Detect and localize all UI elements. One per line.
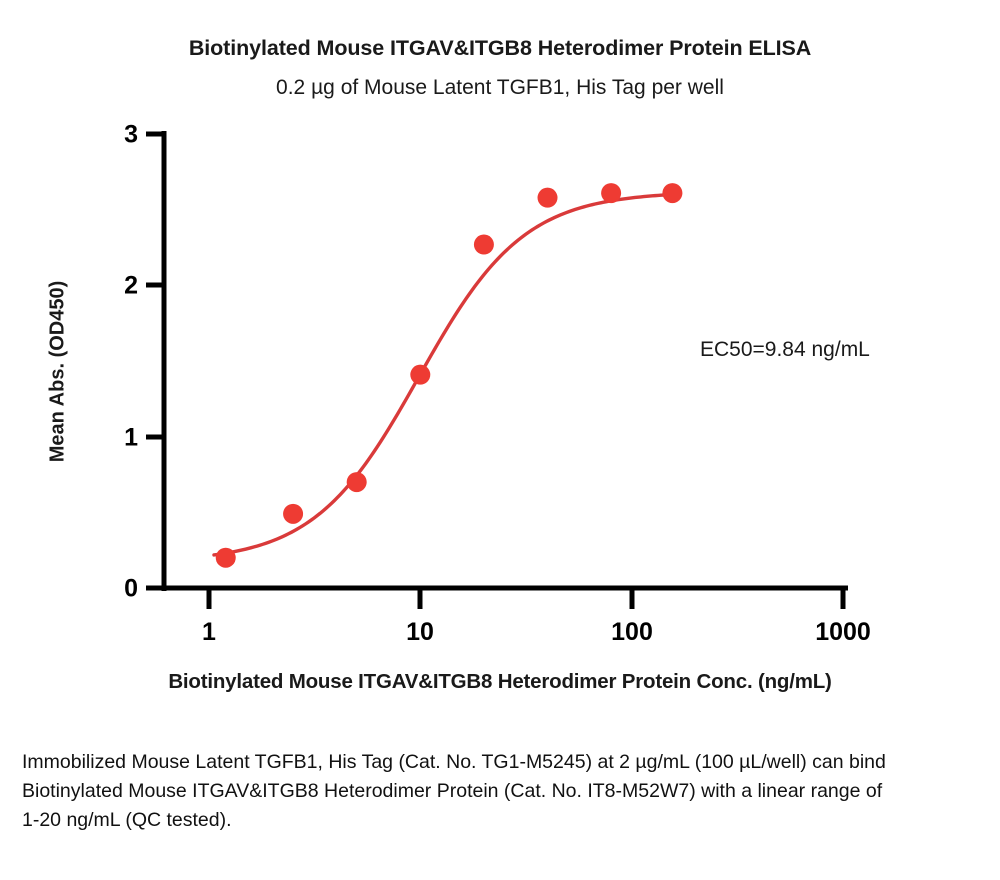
y-axis-ticks: [146, 134, 164, 588]
y-axis-label: Mean Abs. (OD450): [47, 252, 70, 492]
x-axis-tick-labels: 1 10 100 1000: [202, 618, 871, 646]
figure-caption: Immobilized Mouse Latent TGFB1, His Tag …: [22, 748, 902, 835]
x-tick-label: 1: [202, 618, 216, 646]
elisa-figure: Biotinylated Mouse ITGAV&ITGB8 Heterodim…: [0, 0, 1000, 880]
data-point: [601, 183, 621, 203]
data-point: [283, 504, 303, 524]
x-axis-ticks: [209, 588, 843, 609]
y-tick-label: 0: [124, 575, 138, 603]
data-point: [410, 365, 430, 385]
data-point: [474, 235, 494, 255]
data-point: [347, 472, 367, 492]
ec50-annotation: EC50=9.84 ng/mL: [700, 338, 870, 362]
x-tick-label: 100: [611, 618, 653, 646]
data-point: [662, 183, 682, 203]
fit-curve: [214, 195, 672, 555]
y-axis-tick-labels: 3 2 1 0: [124, 121, 138, 603]
x-axis-label: Biotinylated Mouse ITGAV&ITGB8 Heterodim…: [0, 670, 1000, 694]
y-tick-label: 2: [124, 272, 138, 300]
x-tick-label: 10: [406, 618, 434, 646]
data-point-group: [216, 183, 683, 568]
data-point: [538, 188, 558, 208]
y-tick-label: 3: [124, 121, 138, 149]
y-tick-label: 1: [124, 424, 138, 452]
data-point: [216, 548, 236, 568]
plot-area: 3 2 1 0 1 10 100 1000: [0, 0, 1000, 660]
x-tick-label: 1000: [815, 618, 871, 646]
